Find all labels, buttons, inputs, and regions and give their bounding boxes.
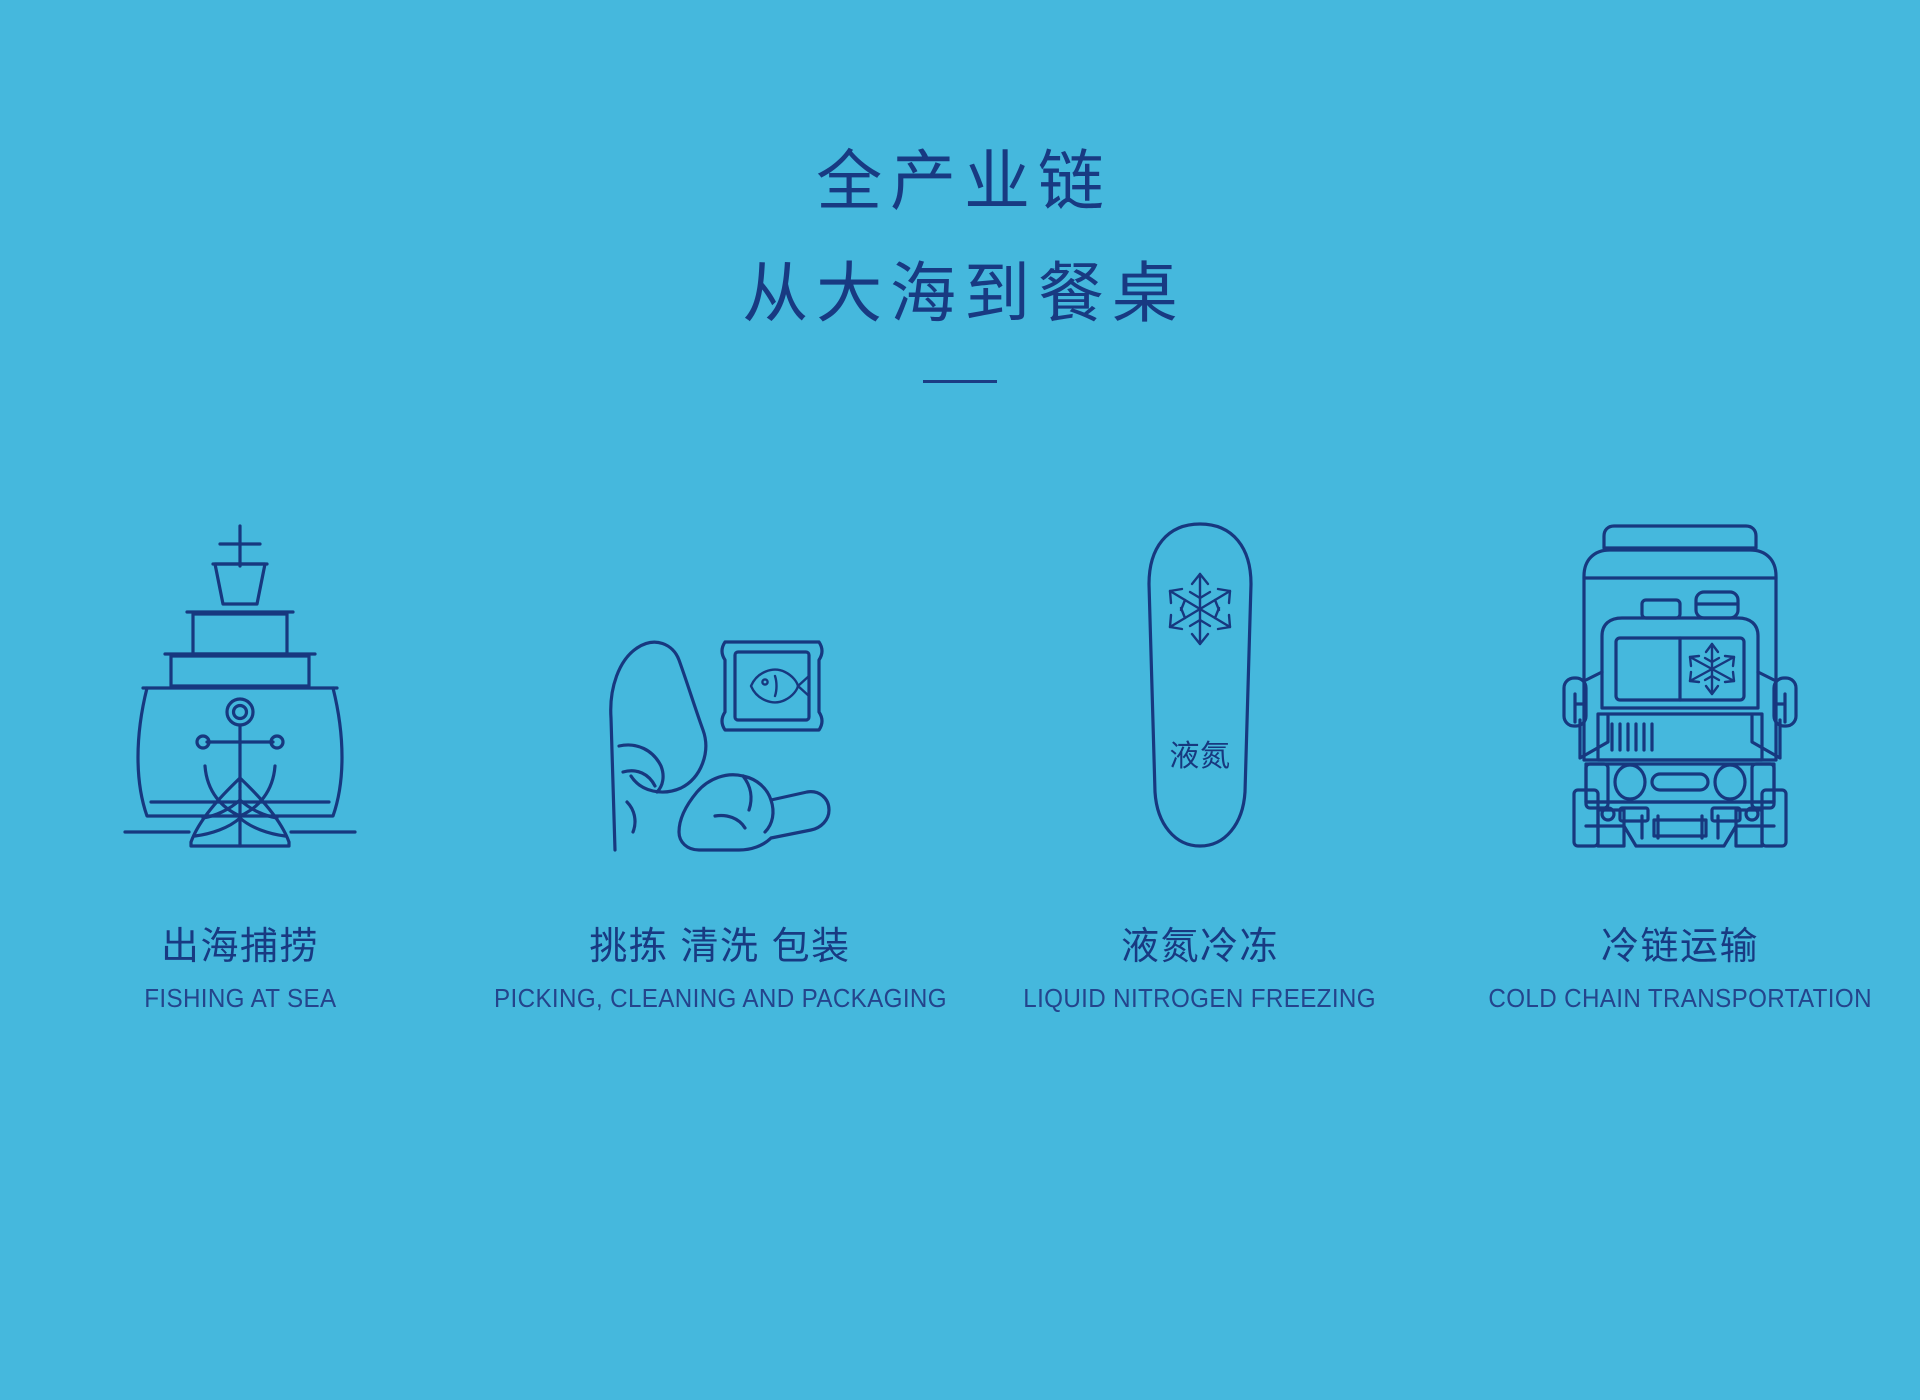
step-label-cn: 冷链运输 bbox=[1474, 924, 1886, 972]
step-label-en: FISHING AT SEA bbox=[144, 982, 336, 1015]
step-label-en: COLD CHAIN TRANSPORTATION bbox=[1488, 982, 1871, 1015]
icon-container: 液氮 bbox=[1135, 520, 1265, 850]
step-label-cn: 挑拣 清洗 包装 bbox=[477, 924, 964, 972]
step-label-cn: 出海捕捞 bbox=[137, 924, 344, 972]
process-step-list: 出海捕捞 FISHING AT SEA bbox=[0, 520, 1920, 1014]
step-label-en: PICKING, CLEANING AND PACKAGING bbox=[494, 982, 947, 1015]
step-labels: 挑拣 清洗 包装 PICKING, CLEANING AND PACKAGING bbox=[477, 924, 964, 1014]
process-step-picking-cleaning-packaging[interactable]: 挑拣 清洗 包装 PICKING, CLEANING AND PACKAGING bbox=[480, 520, 960, 1014]
process-step-cold-chain-transportation[interactable]: 冷链运输 COLD CHAIN TRANSPORTATION bbox=[1440, 520, 1920, 1014]
process-infographic-page: 全产业链 从大海到餐桌 bbox=[0, 0, 1920, 1400]
capsule-label-text: 液氮 bbox=[1169, 740, 1230, 773]
icon-container bbox=[575, 520, 865, 850]
process-step-fishing-at-sea[interactable]: 出海捕捞 FISHING AT SEA bbox=[0, 520, 480, 1014]
icon-container bbox=[1550, 520, 1810, 850]
process-step-liquid-nitrogen-freezing[interactable]: 液氮 液氮冷冻 LIQUID NITROGEN FREEZING bbox=[960, 520, 1440, 1014]
title-divider bbox=[923, 380, 997, 383]
step-labels: 冷链运输 COLD CHAIN TRANSPORTATION bbox=[1474, 924, 1886, 1014]
step-labels: 出海捕捞 FISHING AT SEA bbox=[137, 924, 344, 1014]
liquid-nitrogen-capsule-icon: 液氮 bbox=[1135, 520, 1265, 850]
step-labels: 液氮冷冻 LIQUID NITROGEN FREEZING bbox=[1010, 924, 1389, 1014]
page-header: 全产业链 从大海到餐桌 bbox=[0, 150, 1920, 383]
refrigerated-truck-icon bbox=[1550, 520, 1810, 850]
step-label-cn: 液氮冷冻 bbox=[1010, 924, 1389, 972]
page-title-secondary: 从大海到餐桌 bbox=[8, 262, 1920, 328]
hands-with-fish-packet-icon bbox=[575, 520, 865, 850]
step-label-en: LIQUID NITROGEN FREEZING bbox=[1024, 982, 1377, 1015]
icon-container bbox=[115, 520, 365, 850]
fishing-ship-icon bbox=[115, 520, 365, 850]
snowflake-icon bbox=[1690, 644, 1734, 694]
page-title-primary: 全产业链 bbox=[8, 150, 1920, 216]
snowflake-icon bbox=[1170, 574, 1230, 644]
